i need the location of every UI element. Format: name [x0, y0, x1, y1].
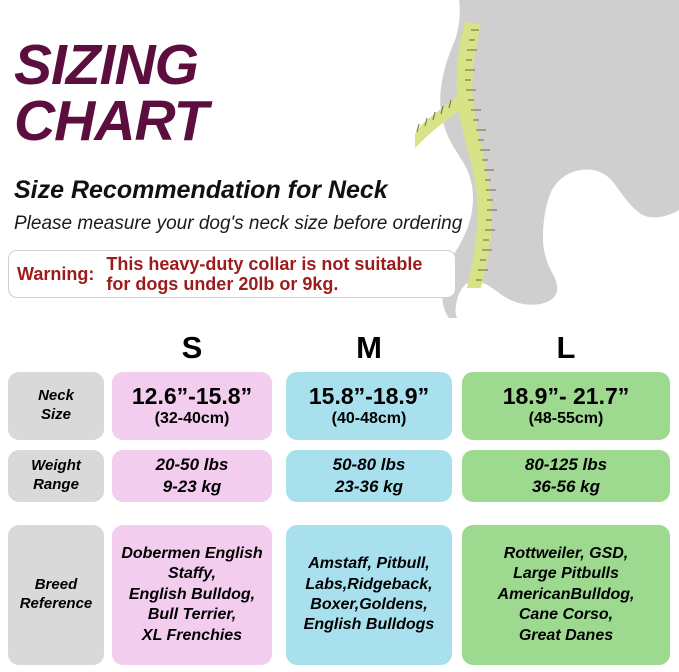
weight-range-large: 80-125 lbs 36-56 kg [462, 450, 670, 502]
weight-large-kg: 36-56 kg [532, 477, 600, 496]
breed-line: Staffy, [168, 565, 216, 582]
neck-size-medium: 15.8”-18.9” (40-48cm) [286, 372, 452, 440]
weight-range-small: 20-50 lbs 9-23 kg [112, 450, 272, 502]
breed-label-line-2: Reference [20, 595, 93, 612]
warning-label: Warning: [17, 264, 94, 285]
subtitle: Size Recommendation for Neck [14, 176, 388, 205]
breed-line: Great Danes [519, 627, 613, 644]
weight-range-large-text: 80-125 lbs 36-56 kg [525, 454, 607, 498]
size-header-l: L [462, 330, 670, 366]
breed-line: Amstaff, Pitbull, [308, 555, 430, 572]
neck-size-large-cm: (48-55cm) [529, 410, 604, 427]
size-header-s: S [112, 330, 272, 366]
row-label-weight-range-text: Weight Range [31, 457, 81, 495]
breed-reference-small: Dobermen EnglishStaffy,English Bulldog,B… [112, 525, 272, 665]
breed-line: Labs,Ridgeback, [305, 576, 432, 593]
breed-line: XL Frenchies [142, 627, 242, 644]
breed-line: Large Pitbulls [513, 565, 619, 582]
breed-line: Cane Corso, [519, 606, 613, 623]
neck-size-large-inches: 18.9”- 21.7” [503, 383, 630, 409]
title-line-1: SIZING [14, 38, 484, 94]
weight-small-kg: 9-23 kg [163, 477, 222, 496]
breed-line: Dobermen English [121, 545, 262, 562]
breed-line: Rottweiler, GSD, [504, 545, 628, 562]
warning-box: Warning: This heavy-duty collar is not s… [8, 250, 456, 298]
row-label-breed-reference-text: Breed Reference [20, 576, 93, 614]
weight-medium-kg: 23-36 kg [335, 477, 403, 496]
neck-size-medium-cm: (40-48cm) [332, 410, 407, 427]
weight-label-line-2: Range [33, 476, 79, 493]
warning-message: This heavy-duty collar is not suitable f… [106, 254, 422, 294]
sizing-chart-page: SIZING CHART Size Recommendation for Nec… [0, 0, 679, 672]
weight-range-medium-text: 50-80 lbs 23-36 kg [333, 454, 406, 498]
size-header-m: M [286, 330, 452, 366]
breed-line: English Bulldog, [129, 586, 255, 603]
breed-label-line-1: Breed [35, 576, 78, 593]
breed-line: Boxer,Goldens, [310, 596, 427, 613]
neck-size-small-inches: 12.6”-15.8” [132, 383, 252, 409]
breed-reference-large-text: Rottweiler, GSD,Large PitbullsAmericanBu… [492, 544, 641, 646]
weight-range-medium: 50-80 lbs 23-36 kg [286, 450, 452, 502]
breed-reference-small-text: Dobermen EnglishStaffy,English Bulldog,B… [115, 544, 268, 646]
row-label-weight-range: Weight Range [8, 450, 104, 502]
breed-reference-medium: Amstaff, Pitbull,Labs,Ridgeback,Boxer,Go… [286, 525, 452, 665]
weight-range-small-text: 20-50 lbs 9-23 kg [156, 454, 229, 498]
neck-size-large-text: 18.9”- 21.7” (48-55cm) [503, 384, 630, 427]
neck-size-small-cm: (32-40cm) [155, 410, 230, 427]
breed-reference-large: Rottweiler, GSD,Large PitbullsAmericanBu… [462, 525, 670, 665]
page-title: SIZING CHART [14, 38, 484, 150]
neck-size-medium-text: 15.8”-18.9” (40-48cm) [309, 384, 429, 427]
warning-line-2: for dogs under 20lb or 9kg. [106, 274, 338, 294]
breed-line: English Bulldogs [304, 616, 435, 633]
warning-line-1: This heavy-duty collar is not suitable [106, 254, 422, 274]
breed-line: Bull Terrier, [148, 606, 236, 623]
weight-small-lbs: 20-50 lbs [156, 455, 229, 474]
row-label-breed-reference: Breed Reference [8, 525, 104, 665]
neck-label-line-2: Size [41, 406, 71, 423]
neck-label-line-1: Neck [38, 387, 74, 404]
measure-note: Please measure your dog's neck size befo… [14, 213, 462, 235]
weight-medium-lbs: 50-80 lbs [333, 455, 406, 474]
title-line-2: CHART [14, 94, 484, 150]
breed-reference-medium-text: Amstaff, Pitbull,Labs,Ridgeback,Boxer,Go… [298, 554, 441, 636]
neck-size-medium-inches: 15.8”-18.9” [309, 383, 429, 409]
weight-label-line-1: Weight [31, 457, 81, 474]
neck-size-small-text: 12.6”-15.8” (32-40cm) [132, 384, 252, 427]
breed-line: AmericanBulldog, [498, 586, 635, 603]
neck-size-large: 18.9”- 21.7” (48-55cm) [462, 372, 670, 440]
neck-size-small: 12.6”-15.8” (32-40cm) [112, 372, 272, 440]
row-label-neck-size-text: Neck Size [38, 387, 74, 425]
row-label-neck-size: Neck Size [8, 372, 104, 440]
weight-large-lbs: 80-125 lbs [525, 455, 607, 474]
